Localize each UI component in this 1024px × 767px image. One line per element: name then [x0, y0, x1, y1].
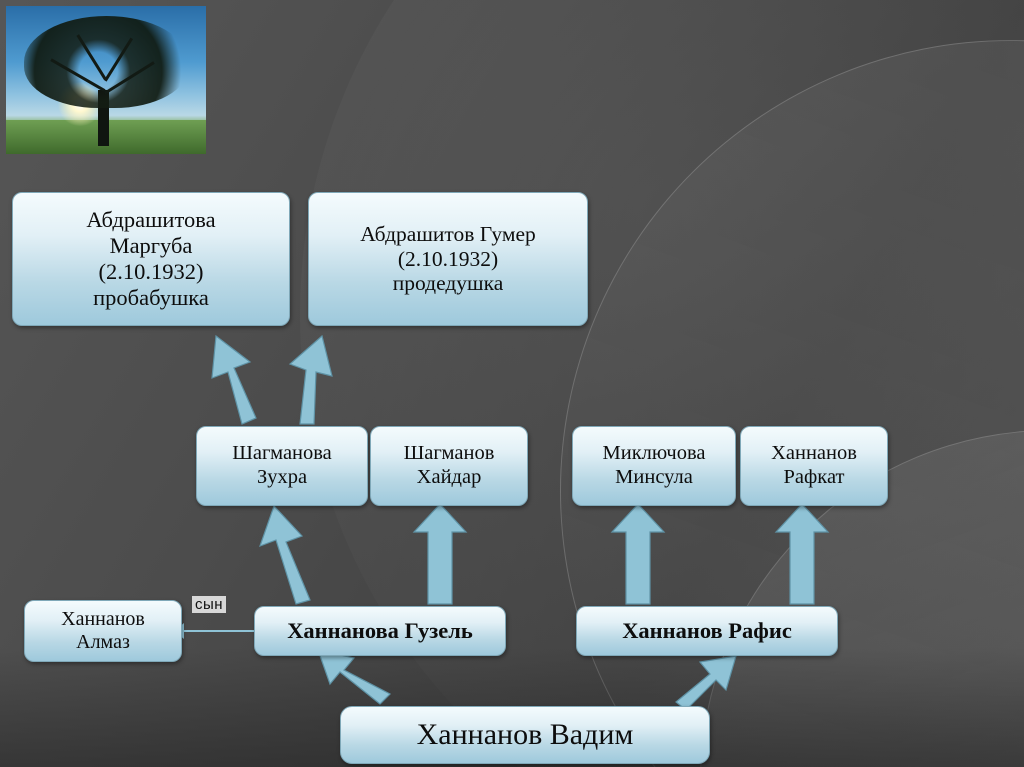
node-hannanov-rafkat[interactable]: Ханнанов Рафкат — [740, 426, 888, 506]
node-pragrandfather[interactable]: Абдрашитов Гумер (2.10.1932) продедушка — [308, 192, 588, 326]
node-hannanov-almaz-label: Ханнанов Алмаз — [31, 608, 175, 654]
arrow-vadim-to-guzel — [318, 650, 390, 704]
node-hannanov-rafkat-label: Ханнанов Рафкат — [747, 442, 881, 490]
node-hannanov-rafis[interactable]: Ханнанов Рафис — [576, 606, 838, 656]
node-shagmanov-haidar-label: Шагманов Хайдар — [377, 442, 521, 490]
slide-canvas: сын Абдрашитова Маргуба (2.10.1932) проб… — [0, 0, 1024, 767]
node-shagmanov-haidar[interactable]: Шагманов Хайдар — [370, 426, 528, 506]
node-pragrandmother[interactable]: Абдрашитова Маргуба (2.10.1932) пробабуш… — [12, 192, 290, 326]
node-miklyuchova-minsula-label: Миключова Минсула — [579, 442, 729, 490]
connector-label-son: сын — [192, 596, 226, 613]
arrow-zuhra-to-pragrandfather — [290, 336, 332, 424]
node-hannanov-almaz[interactable]: Ханнанов Алмаз — [24, 600, 182, 662]
arrow-rafis-to-miklyuchova — [612, 504, 664, 604]
connector-line-guzel-almaz — [182, 630, 256, 632]
arrow-zuhra-to-pragrandmother — [212, 336, 256, 424]
arrow-guzel-to-zuhra — [260, 506, 310, 604]
node-hannanov-vadim-label: Ханнанов Вадим — [347, 718, 703, 753]
arrow-guzel-to-haidar — [414, 504, 466, 604]
arrow-rafis-to-rafkat — [776, 504, 828, 604]
node-hannanov-rafis-label: Ханнанов Рафис — [583, 618, 831, 644]
arrow-vadim-to-rafis — [676, 656, 736, 710]
node-hannanov-vadim[interactable]: Ханнанов Вадим — [340, 706, 710, 764]
node-pragrandfather-label: Абдрашитов Гумер (2.10.1932) продедушка — [315, 222, 581, 297]
node-hannanova-guzel[interactable]: Ханнанова Гузель — [254, 606, 506, 656]
node-shagmanova-zuhra-label: Шагманова Зухра — [203, 442, 361, 490]
node-pragrandmother-label: Абдрашитова Маргуба (2.10.1932) пробабуш… — [19, 207, 283, 311]
node-miklyuchova-minsula[interactable]: Миключова Минсула — [572, 426, 736, 506]
node-hannanova-guzel-label: Ханнанова Гузель — [261, 618, 499, 644]
node-shagmanova-zuhra[interactable]: Шагманова Зухра — [196, 426, 368, 506]
